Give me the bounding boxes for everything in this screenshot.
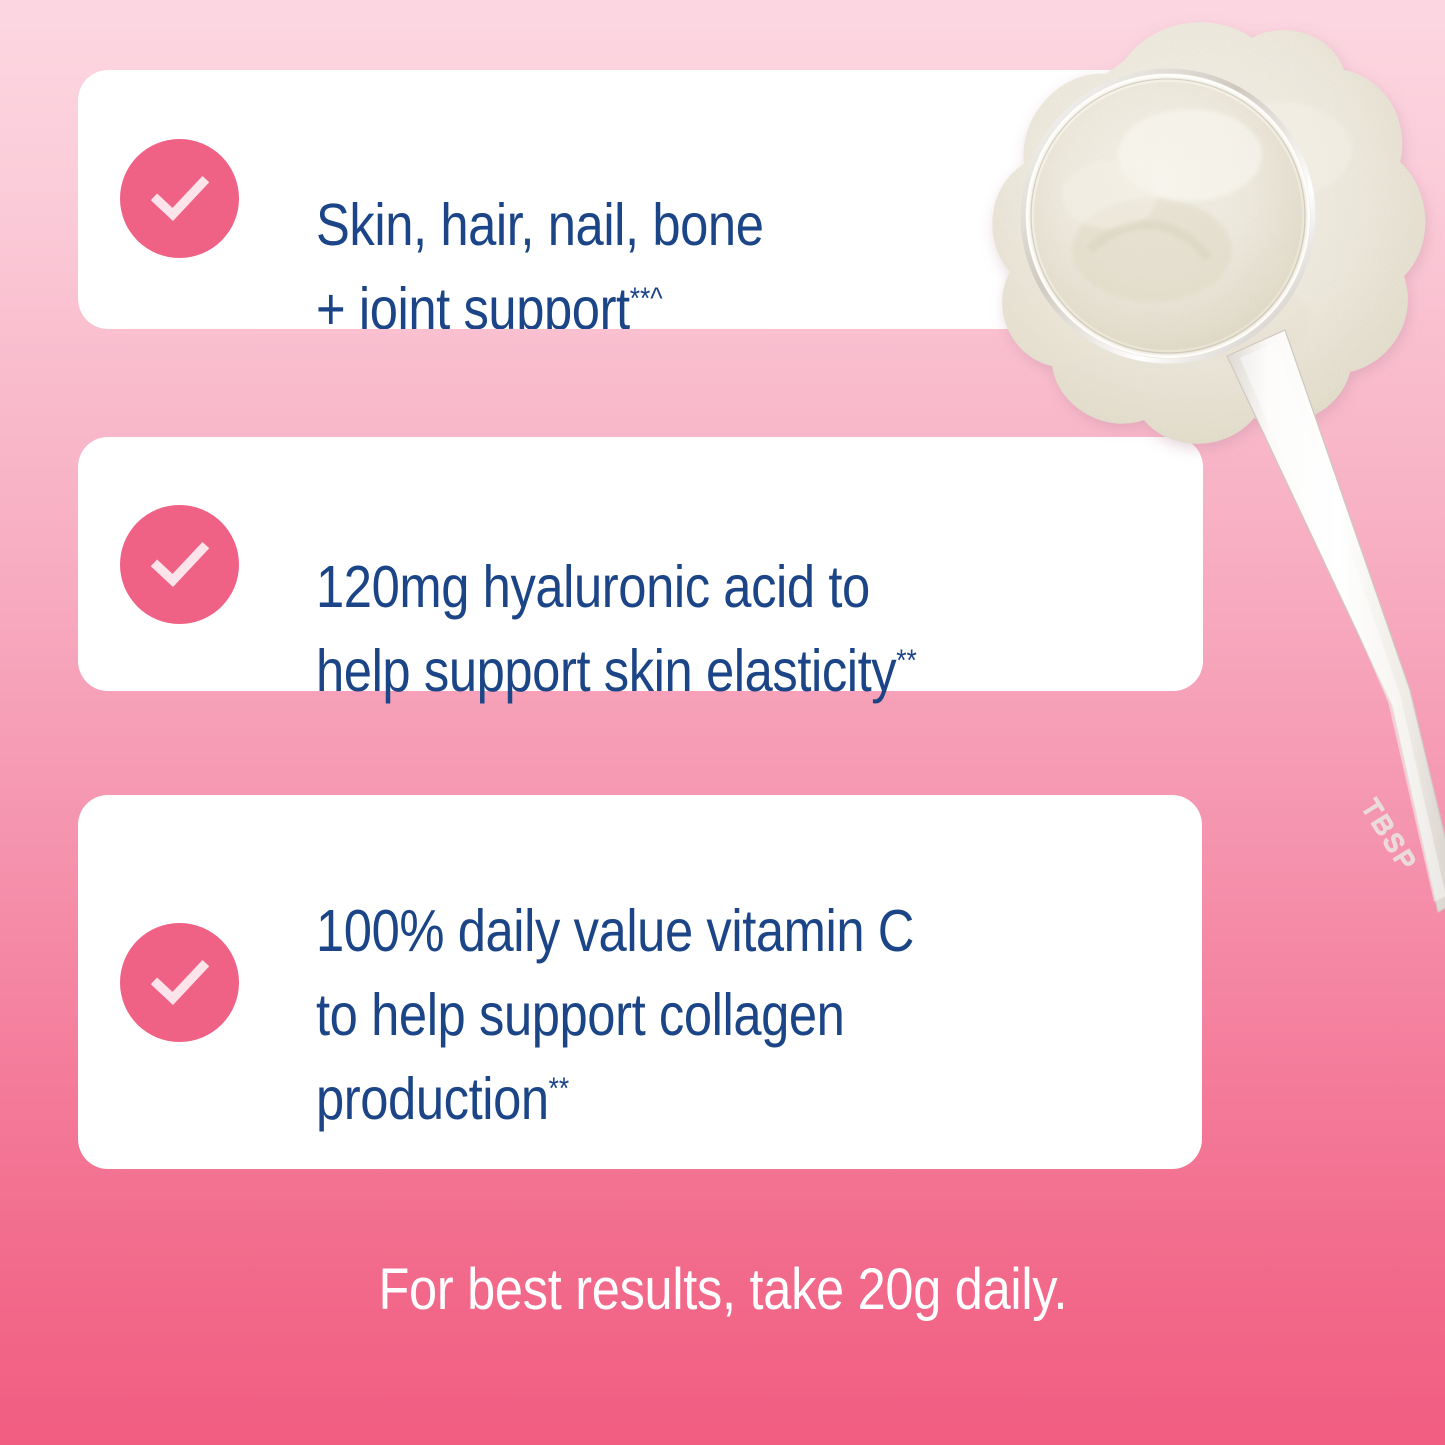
benefit-footnote-3: ** [549,1070,570,1105]
benefit-line-1b: + joint support [316,276,630,342]
check-icon [120,923,239,1042]
check-icon [120,505,239,624]
benefit-card-1: Skin, hair, nail, bone+ joint support**^ [78,70,1203,329]
benefit-line-3b: to help support collagen [316,982,844,1048]
scoop-handle [1227,330,1445,912]
footer-instruction: For best results, take 20g daily. [0,1258,1445,1322]
benefit-text-3: 100% daily value vitamin Cto help suppor… [316,890,1059,1141]
benefit-line-1a: Skin, hair, nail, bone [316,192,764,258]
benefit-line-2a: 120mg hyaluronic acid to [316,554,870,620]
benefit-line-2b: help support skin elasticity [316,638,896,704]
benefit-card-2: 120mg hyaluronic acid tohelp support ski… [78,437,1203,691]
benefit-line-3a: 100% daily value vitamin C [316,898,914,964]
benefit-footnote-1: **^ [630,280,663,315]
promo-canvas: Skin, hair, nail, bone+ joint support**^… [0,0,1445,1445]
benefit-card-3: 100% daily value vitamin Cto help suppor… [78,795,1202,1169]
benefit-text-2: 120mg hyaluronic acid tohelp support ski… [316,546,1060,714]
check-icon [120,139,239,258]
benefit-text-1: Skin, hair, nail, bone+ joint support**^ [316,184,1060,352]
benefit-footnote-2: ** [896,642,917,677]
footer-text: For best results, take 20g daily. [378,1258,1067,1322]
benefit-line-3c: production [316,1066,549,1132]
tbsp-engraving: TBSP [1355,793,1424,877]
